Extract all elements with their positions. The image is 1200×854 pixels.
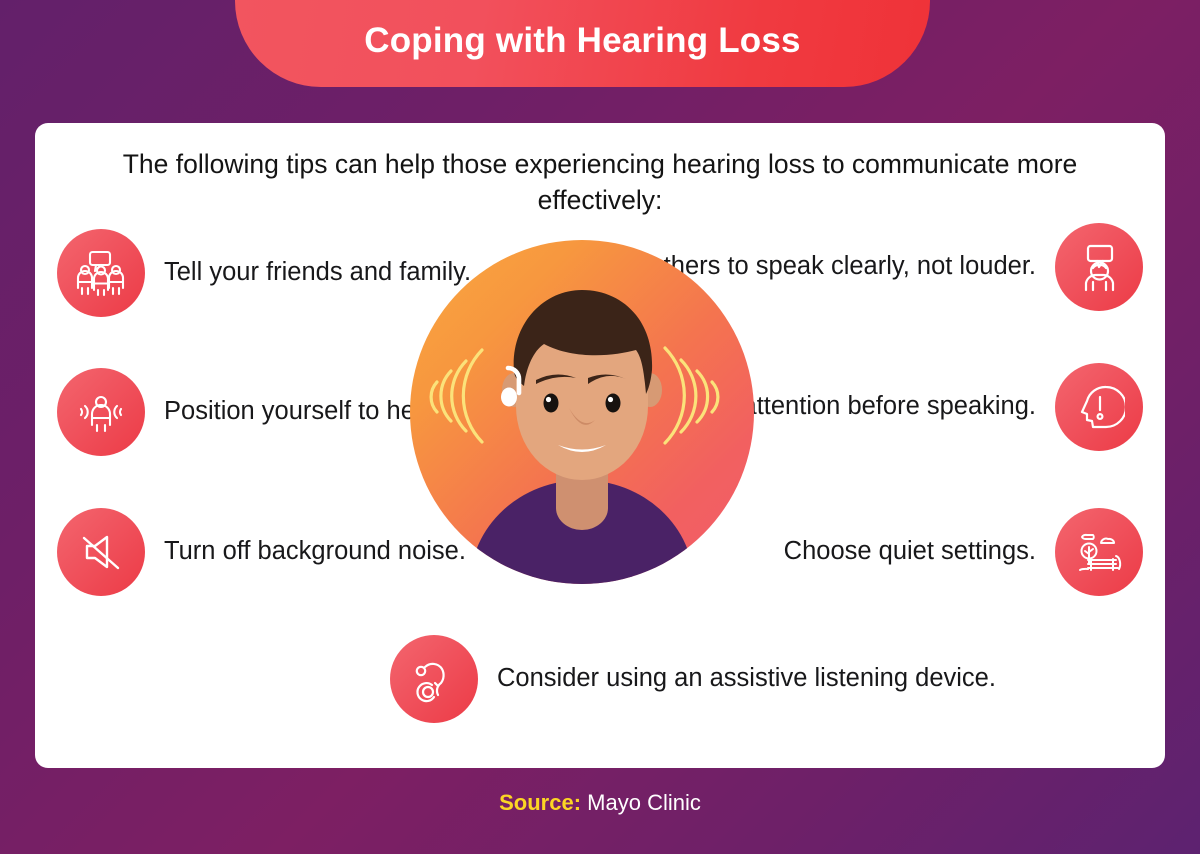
- intro-text: The following tips can help those experi…: [95, 147, 1105, 219]
- tip-tell-friends: Tell your friends and family.: [57, 229, 471, 317]
- content-card: The following tips can help those experi…: [35, 123, 1165, 768]
- eye-right-highlight: [608, 397, 613, 402]
- people-speech-bubble-icon: [57, 229, 145, 317]
- tip-label: Consider using an assistive listening de…: [497, 662, 996, 696]
- speaker-muted-icon: [57, 508, 145, 596]
- park-bench-icon: [1055, 508, 1143, 596]
- eye-left-highlight: [546, 397, 551, 402]
- illustration-svg: [410, 240, 754, 584]
- source-value: Mayo Clinic: [587, 790, 701, 815]
- head-exclamation-icon: [1055, 363, 1143, 451]
- page-title: Coping with Hearing Loss: [364, 23, 800, 58]
- source-label: Source:: [499, 790, 581, 815]
- soundwave-right: [665, 348, 718, 443]
- person-soundwaves-icon: [57, 368, 145, 456]
- man-with-hearing-aid-illustration: [410, 240, 754, 584]
- eye-left: [544, 394, 559, 413]
- tip-assistive-device: Consider using an assistive listening de…: [390, 635, 996, 723]
- header-banner: Coping with Hearing Loss: [235, 0, 930, 87]
- tip-label: Choose quiet settings.: [784, 535, 1036, 569]
- eye-right: [606, 394, 621, 413]
- tip-choose-quiet-settings: Choose quiet settings.: [784, 508, 1143, 596]
- footer-source: Source: Mayo Clinic: [0, 790, 1200, 816]
- tip-turn-off-noise: Turn off background noise.: [57, 508, 466, 596]
- soundwave-left: [431, 350, 482, 442]
- hearing-aid-icon: [390, 635, 478, 723]
- person-speech-bubble-icon: [1055, 223, 1143, 311]
